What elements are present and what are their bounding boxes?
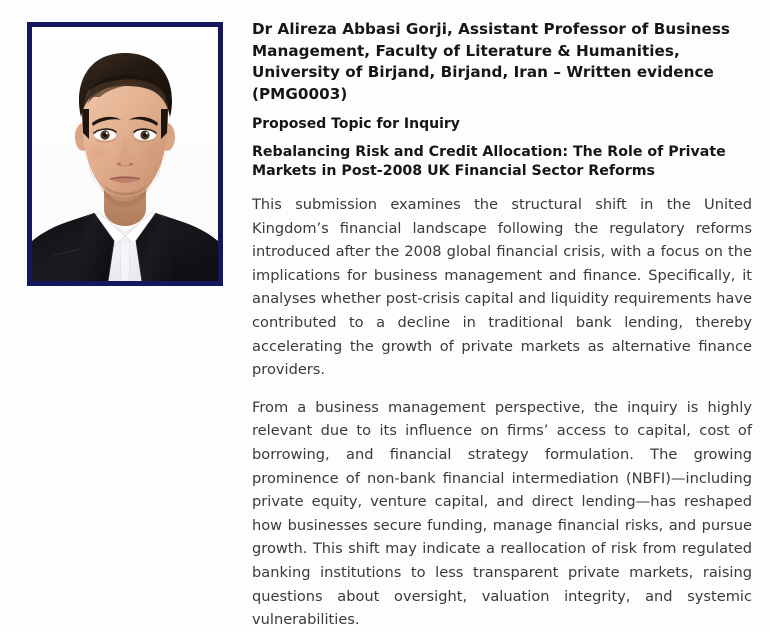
topic-heading: Rebalancing Risk and Credit Allocation: … [252,143,752,181]
body-paragraph-2: From a business management perspective, … [252,396,752,632]
document-page: Dr Alireza Abbasi Gorji, Assistant Profe… [0,0,770,500]
page-title: Dr Alireza Abbasi Gorji, Assistant Profe… [252,19,752,105]
section-heading-proposed-topic: Proposed Topic for Inquiry [252,114,752,134]
author-portrait [32,27,218,281]
body-paragraph-1: This submission examines the structural … [252,193,752,382]
portrait-illustration [32,27,218,281]
evidence-content: Dr Alireza Abbasi Gorji, Assistant Profe… [252,19,752,632]
author-portrait-frame [27,22,223,286]
